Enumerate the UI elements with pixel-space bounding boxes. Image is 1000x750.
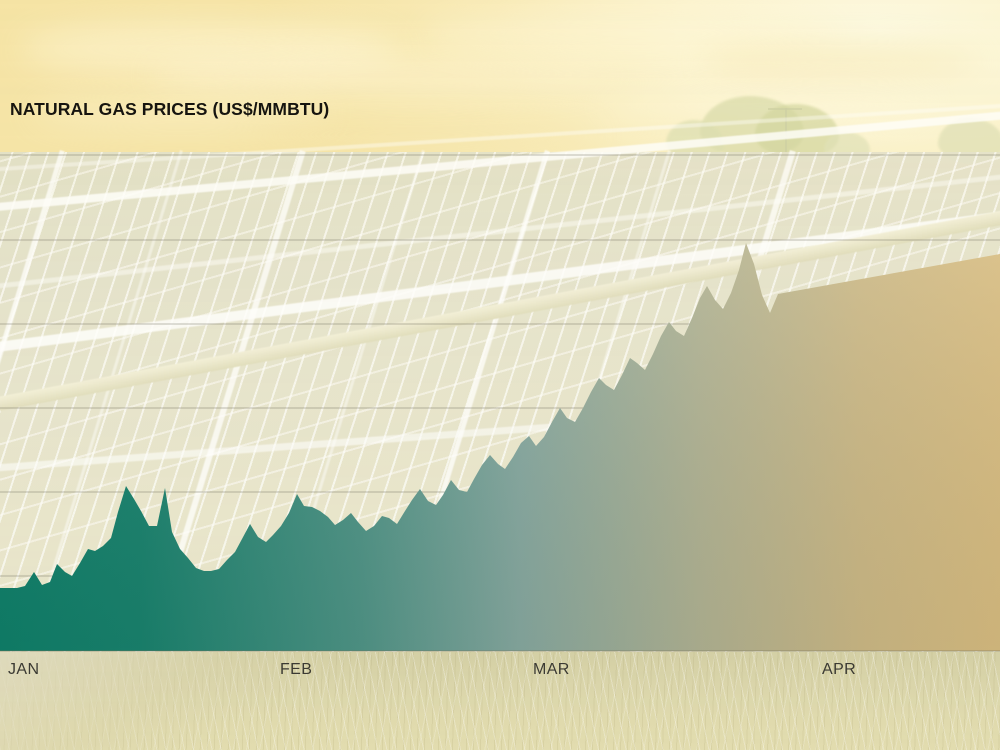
- x-axis-label-feb: FEB: [280, 661, 312, 679]
- chart-plot: [0, 0, 1000, 750]
- x-axis-label-jan: JAN: [8, 661, 39, 679]
- area-series-shading: [0, 243, 1000, 651]
- x-axis-label-mar: MAR: [533, 661, 570, 679]
- x-axis-label-apr: APR: [822, 661, 856, 679]
- chart-screenshot: NATURAL GAS PRICES (US$/MMBTU) JANFEBMAR…: [0, 0, 1000, 750]
